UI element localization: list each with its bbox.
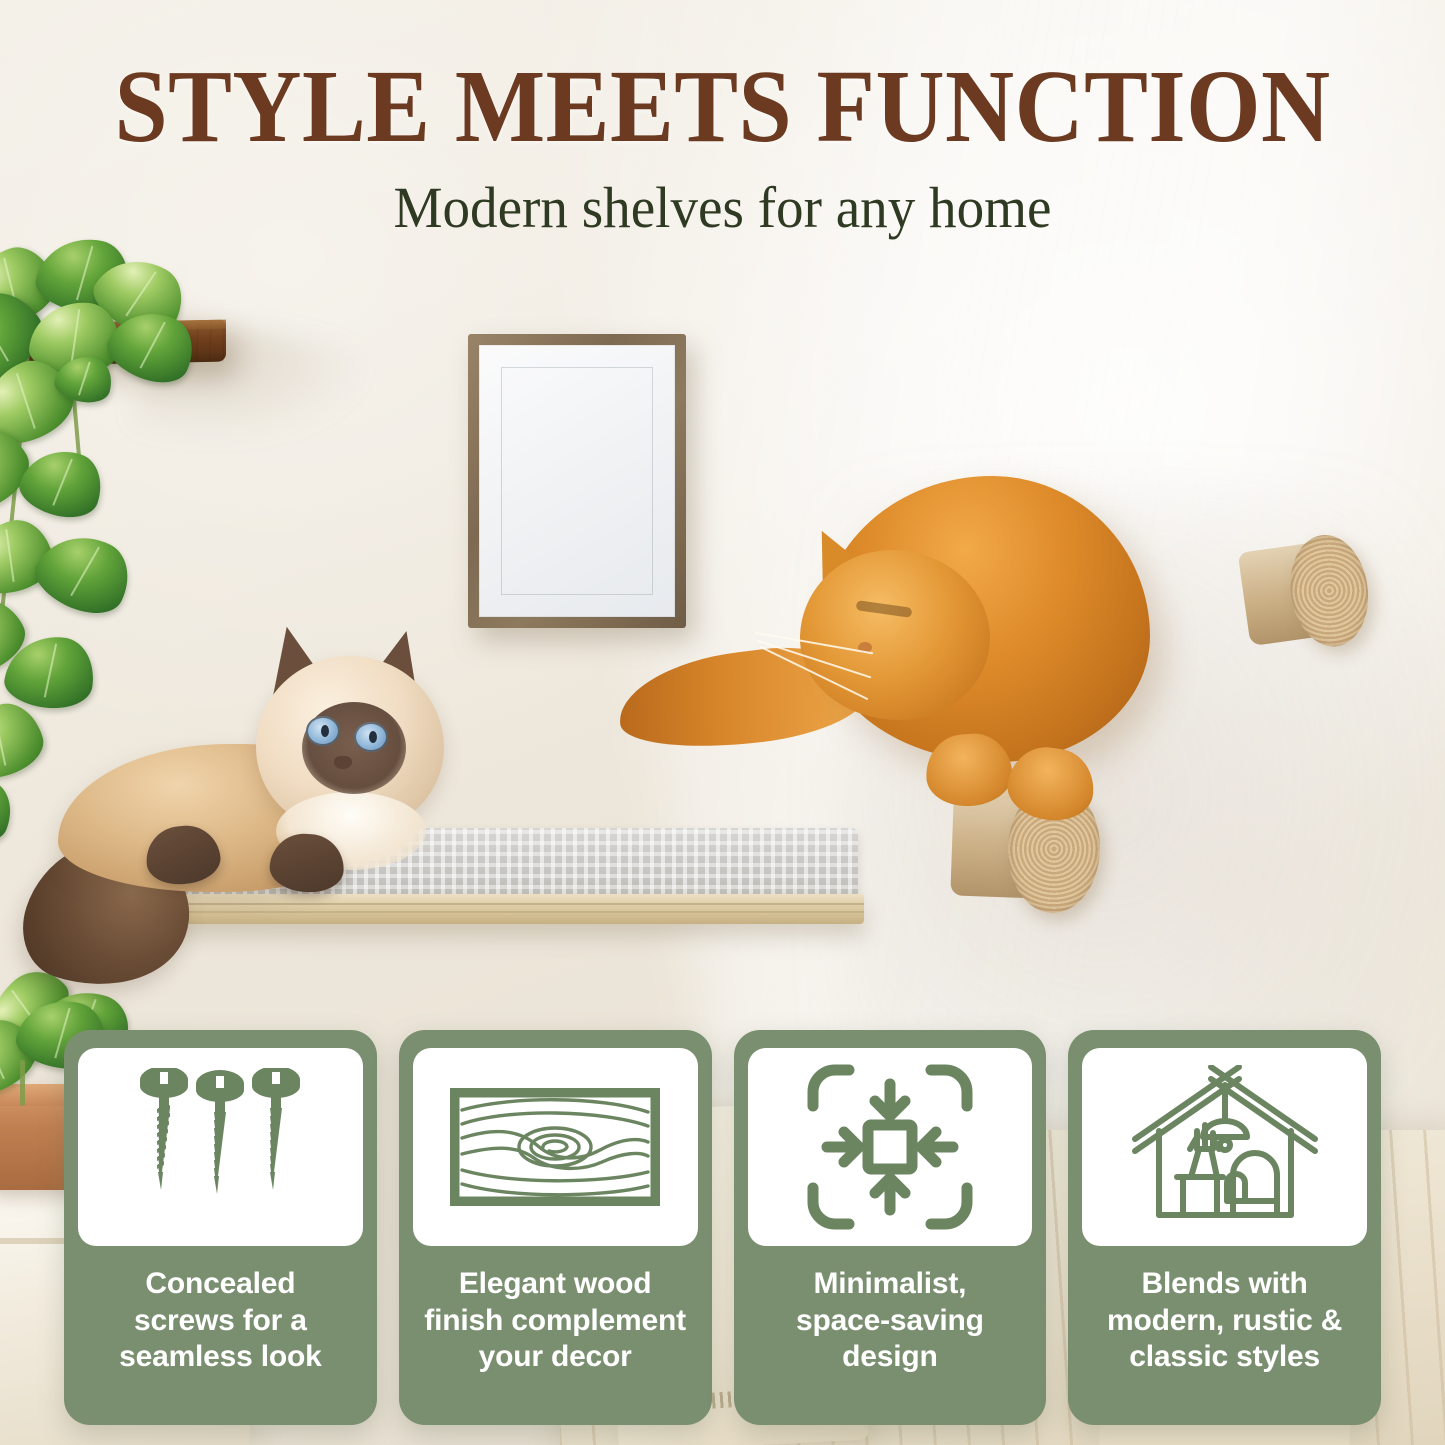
feature-card-label: Blends with modern, rustic & classic sty… <box>1107 1266 1342 1376</box>
seal-point-cat <box>18 628 458 1028</box>
page-title: STYLE MEETS FUNCTION <box>58 54 1387 160</box>
picture-frame <box>468 334 686 628</box>
feature-card-wood-finish[interactable]: Elegant wood finish complement your deco… <box>399 1030 712 1425</box>
icon-container <box>78 1048 363 1246</box>
product-infographic: STYLE MEETS FUNCTION Modern shelves for … <box>0 0 1445 1445</box>
compress-space-saving-icon <box>805 1062 975 1232</box>
feature-card-space-saving[interactable]: Minimalist, space-saving design <box>734 1030 1047 1425</box>
page-subtitle: Modern shelves for any home <box>36 174 1409 241</box>
feature-card-row: Concealed screws for a seamless look <box>64 1030 1381 1425</box>
feature-card-label: Concealed screws for a seamless look <box>119 1266 322 1376</box>
picture-frame-mat <box>479 345 675 617</box>
house-interior-icon <box>1127 1065 1323 1229</box>
three-screws-icon <box>134 1068 306 1226</box>
icon-container <box>1082 1048 1367 1246</box>
icon-container <box>413 1048 698 1246</box>
ginger-cat <box>690 466 1230 866</box>
feature-card-concealed-screws[interactable]: Concealed screws for a seamless look <box>64 1030 377 1425</box>
wood-grain-plank-icon <box>450 1088 660 1206</box>
feature-card-label: Elegant wood finish complement your deco… <box>424 1266 686 1376</box>
icon-container <box>748 1048 1033 1246</box>
sisal-wall-step-upper <box>1237 530 1375 658</box>
feature-card-label: Minimalist, space-saving design <box>796 1266 984 1376</box>
header-block: STYLE MEETS FUNCTION Modern shelves for … <box>0 54 1445 241</box>
feature-card-blends-styles[interactable]: Blends with modern, rustic & classic sty… <box>1068 1030 1381 1425</box>
